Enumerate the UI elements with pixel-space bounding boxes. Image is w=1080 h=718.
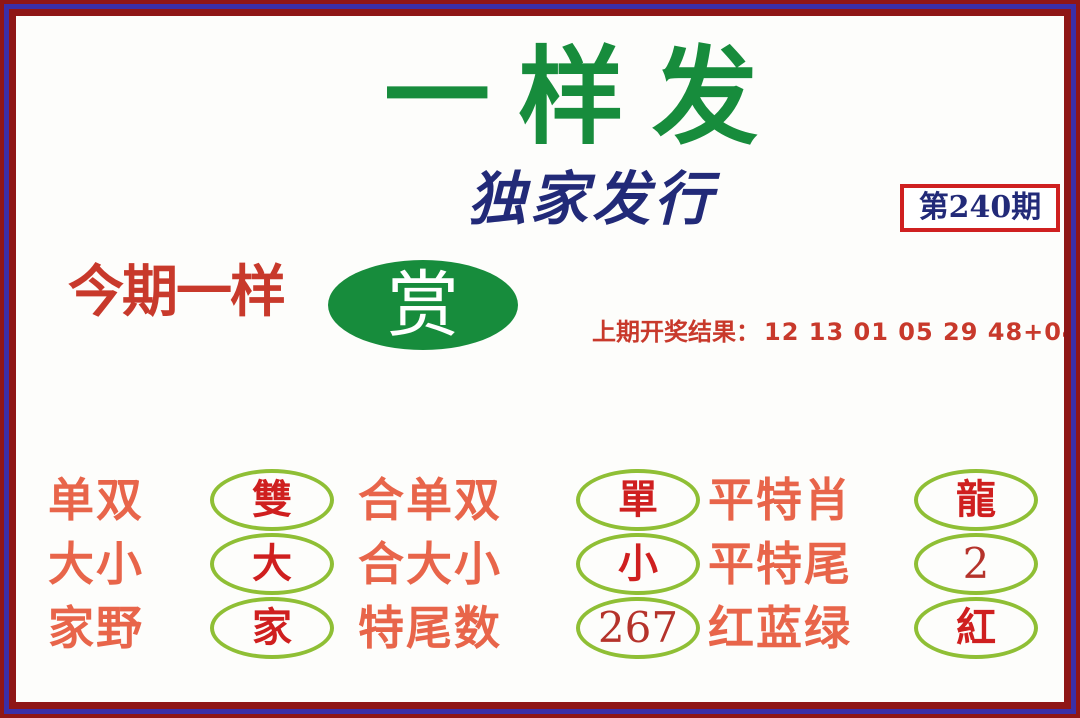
prediction-value: 2 <box>963 542 990 586</box>
poster-frame-inner: 一样发 独家发行 第240期 今期一样 赏 上期开奖结果：12 13 01 05… <box>9 9 1071 709</box>
prediction-label: 合单双 <box>358 475 568 525</box>
last-draw-result: 上期开奖结果：12 13 01 05 29 48+04 <box>592 318 1064 346</box>
prediction-value: 單 <box>618 478 658 522</box>
slogan-badge-char: 赏 <box>387 268 459 342</box>
page-title: 一样发 <box>291 42 851 154</box>
prediction-cell: 大小大 <box>48 532 358 596</box>
prediction-value-ellipse: 小 <box>576 533 700 595</box>
prediction-cell: 平特尾2 <box>708 532 1038 596</box>
issue-badge-label: 第240期 <box>919 193 1042 223</box>
prediction-value-ellipse: 大 <box>210 533 334 595</box>
prediction-value-ellipse: 家 <box>210 597 334 659</box>
prediction-label: 家野 <box>48 603 202 653</box>
poster-canvas: 一样发 独家发行 第240期 今期一样 赏 上期开奖结果：12 13 01 05… <box>16 16 1064 702</box>
prediction-cell: 单双雙 <box>48 468 358 532</box>
prediction-value: 家 <box>252 606 292 650</box>
prediction-cell: 合大小小 <box>358 532 708 596</box>
prediction-label: 合大小 <box>358 539 568 589</box>
slogan-badge: 赏 <box>328 260 518 350</box>
poster-frame-middle: 一样发 独家发行 第240期 今期一样 赏 上期开奖结果：12 13 01 05… <box>4 4 1076 714</box>
prediction-cell: 平特肖龍 <box>708 468 1038 532</box>
prediction-value: 紅 <box>956 606 996 650</box>
prediction-label: 平特尾 <box>708 539 906 589</box>
poster-frame-outer: 一样发 独家发行 第240期 今期一样 赏 上期开奖结果：12 13 01 05… <box>0 0 1080 718</box>
prediction-value: 小 <box>618 542 658 586</box>
prediction-cell: 合单双單 <box>358 468 708 532</box>
prediction-value-ellipse: 龍 <box>914 469 1038 531</box>
prediction-cell: 家野家 <box>48 596 358 660</box>
prediction-value-ellipse: 雙 <box>210 469 334 531</box>
prediction-label: 大小 <box>48 539 202 589</box>
prediction-label: 红蓝绿 <box>708 603 906 653</box>
prediction-value-ellipse: 267 <box>576 597 700 659</box>
prediction-label: 特尾数 <box>358 603 568 653</box>
prediction-label: 单双 <box>48 475 202 525</box>
prediction-cell: 特尾数267 <box>358 596 708 660</box>
prediction-value: 267 <box>598 606 678 650</box>
prediction-value: 龍 <box>956 478 996 522</box>
prediction-value: 雙 <box>252 478 292 522</box>
issue-badge: 第240期 <box>900 184 1060 232</box>
prediction-value-ellipse: 紅 <box>914 597 1038 659</box>
prediction-value-ellipse: 2 <box>914 533 1038 595</box>
prediction-grid: 单双雙合单双單平特肖龍大小大合大小小平特尾2家野家特尾数267红蓝绿紅 <box>48 468 1058 660</box>
last-draw-label: 上期开奖结果： <box>592 318 760 346</box>
prediction-value-ellipse: 單 <box>576 469 700 531</box>
last-draw-numbers: 12 13 01 05 29 48+04 <box>764 318 1064 346</box>
sub-title: 独家发行 <box>468 168 716 230</box>
prediction-cell: 红蓝绿紅 <box>708 596 1038 660</box>
slogan-text: 今期一样 <box>68 262 284 322</box>
prediction-value: 大 <box>252 542 292 586</box>
prediction-label: 平特肖 <box>708 475 906 525</box>
